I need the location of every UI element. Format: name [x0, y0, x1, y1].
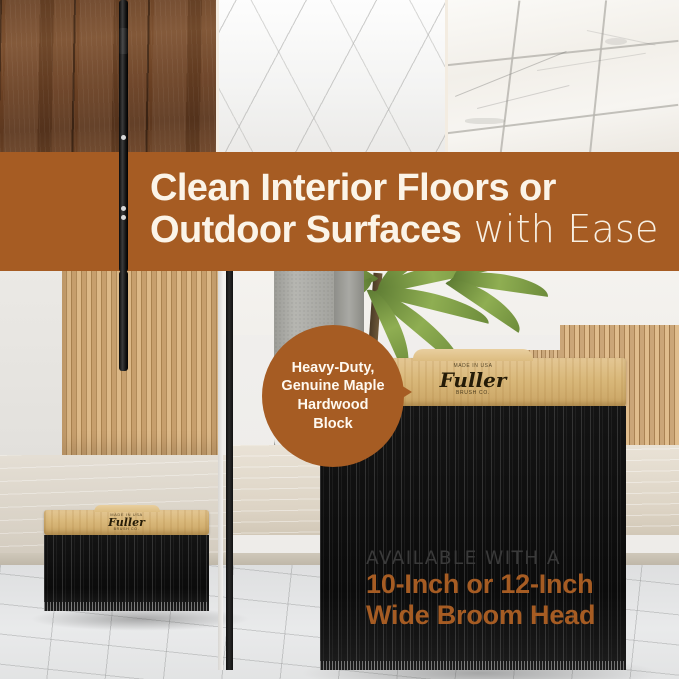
- feature-callout-badge: Heavy-Duty, Genuine Maple Hardwood Block: [262, 325, 404, 467]
- banner-line-2-light: with Ease: [461, 207, 658, 251]
- size-headline-line-2: Wide Broom Head: [366, 600, 595, 631]
- brush-co-text: BRUSH CO.: [108, 528, 145, 532]
- swatch-white-ceramic-tile-floor: [219, 0, 447, 155]
- door-frame-mullion: [226, 250, 233, 670]
- size-availability-copy: AVAILABLE WITH A 10-Inch or 12-Inch Wide…: [366, 548, 595, 632]
- swatch-divider-2: [445, 0, 448, 155]
- swatch-dark-hardwood-floor: [0, 0, 219, 155]
- broom-handle-upper: [119, 0, 128, 272]
- handle-screw: [121, 135, 126, 140]
- callout-line-4: Block: [313, 415, 353, 434]
- handle-screw: [121, 215, 126, 220]
- handle-grip: [119, 28, 128, 54]
- upright-broom: MADE IN USA Fuller BRUSH CO.: [44, 510, 209, 611]
- callout-line-3: Hardwood: [298, 396, 369, 415]
- callout-line-2: Genuine Maple: [281, 377, 384, 396]
- maple-hardwood-block: MADE IN USA Fuller BRUSH CO.: [44, 510, 209, 535]
- product-marketing-image: MADE IN USA Fuller BRUSH CO. MADE IN USA…: [0, 0, 679, 679]
- interior-wall: [0, 250, 70, 460]
- callout-text: Heavy-Duty, Genuine Maple Hardwood Block: [262, 325, 404, 467]
- swatch-marble-stone-tile-floor: [447, 0, 679, 155]
- block-hump: [94, 505, 160, 512]
- block-hump: [413, 349, 533, 361]
- fuller-brush-logo: MADE IN USA Fuller BRUSH CO.: [440, 364, 507, 396]
- brush-co-text: BRUSH CO.: [440, 391, 507, 396]
- headline-banner: Clean Interior Floors or Outdoor Surface…: [0, 152, 679, 271]
- handle-screw: [121, 206, 126, 211]
- wood-slat-wall-interior: [62, 255, 222, 455]
- banner-text-block: Clean Interior Floors or Outdoor Surface…: [150, 168, 670, 251]
- made-in-usa-text: MADE IN USA: [108, 513, 145, 517]
- door-frame-light: [218, 250, 223, 670]
- broom-handle-lower: [119, 271, 128, 371]
- size-headline-line-1: 10-Inch or 12-Inch: [366, 569, 595, 600]
- made-in-usa-text: MADE IN USA: [440, 364, 507, 369]
- banner-line-2-bold: Outdoor Surfaces: [150, 209, 461, 251]
- banner-line-1: Clean Interior Floors or: [150, 167, 556, 209]
- brand-name: Fuller: [440, 370, 507, 390]
- callout-line-1: Heavy-Duty,: [292, 359, 375, 378]
- black-flagged-bristles: [44, 535, 209, 611]
- floor-type-swatch-strip: [0, 0, 679, 155]
- availability-eyebrow: AVAILABLE WITH A: [366, 548, 595, 569]
- fuller-brush-logo: MADE IN USA Fuller BRUSH CO.: [108, 513, 145, 532]
- swatch-divider-1: [216, 0, 219, 155]
